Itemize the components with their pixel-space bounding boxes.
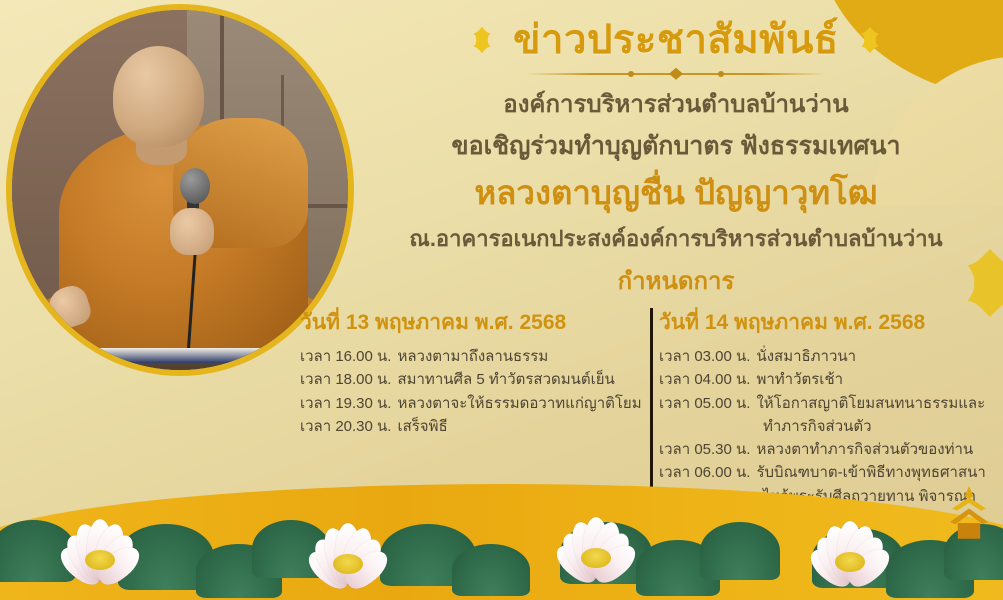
item-time: เวลา 18.00 น. xyxy=(300,368,391,391)
item-time: เวลา 19.30 น. xyxy=(300,392,391,415)
item-detail: พาทำวัตรเช้า xyxy=(756,368,843,391)
item-time: เวลา 05.00 น. xyxy=(659,392,750,415)
item-time: เวลา 04.00 น. xyxy=(659,368,750,391)
thai-pagoda-icon xyxy=(941,484,997,542)
item-detail: หลวงตามาถึงลานธรรม xyxy=(397,345,548,368)
agenda-label: กำหนดการ xyxy=(352,261,1000,300)
schedule-item: เวลา 20.30 น. เสร็จพิธี xyxy=(300,415,637,438)
item-time: เวลา 05.30 น. xyxy=(659,438,750,461)
schedule-item: เวลา 06.00 น. รับบิณฑบาต-เข้าพิธีทางพุทธ… xyxy=(659,461,1000,484)
venue-text: ณ.อาคารอเนกประสงค์องค์การบริหารส่วนตำบลบ… xyxy=(352,225,1000,254)
item-detail: ให้โอกาสญาติโยมสนทนาธรรมและ xyxy=(756,392,985,415)
day2-heading: วันที่ 14 พฤษภาคม พ.ศ. 2568 xyxy=(659,306,1000,339)
header-block: ข่าวประชาสัมพันธ์ องค์การบริหารส่วนตำบลบ… xyxy=(352,18,1000,300)
four-petal-flower-icon xyxy=(467,25,497,55)
item-detail: หลวงตาจะให้ธรรมดอวาทแก่ญาติโยม xyxy=(397,392,641,415)
diamond-divider-icon xyxy=(526,67,826,81)
schedule-item-continuation: ทำภารกิจส่วนตัว xyxy=(659,415,1000,438)
monk-name: หลวงตาบุญชื่น ปัญญาวุทโฒ xyxy=(352,172,1000,213)
item-detail: เสร็จพิธี xyxy=(397,415,447,438)
schedule-item: เวลา 05.00 น. ให้โอกาสญาติโยมสนทนาธรรมแล… xyxy=(659,392,1000,415)
page-title: ข่าวประชาสัมพันธ์ xyxy=(513,18,839,63)
schedule-item: เวลา 04.00 น. พาทำวัตรเช้า xyxy=(659,368,1000,391)
item-time: เวลา 03.00 น. xyxy=(659,345,750,368)
monk-photo-content xyxy=(12,10,348,370)
item-detail: สมาทานศีล 5 ทำวัตรสวดมนต์เย็น xyxy=(397,368,614,391)
item-detail: รับบิณฑบาต-เข้าพิธีทางพุทธศาสนา xyxy=(756,461,985,484)
lotus-flower xyxy=(790,500,910,586)
title-row: ข่าวประชาสัมพันธ์ xyxy=(352,18,1000,63)
item-detail: นั่งสมาธิภาวนา xyxy=(756,345,856,368)
item-time: เวลา 20.30 น. xyxy=(300,415,391,438)
invitation-text: ขอเชิญร่วมทำบุญตักบาตร ฟังธรรมเทศนา xyxy=(352,130,1000,163)
lotus-leaf xyxy=(452,544,530,596)
schedule-item: เวลา 16.00 น. หลวงตามาถึงลานธรรม xyxy=(300,345,637,368)
item-time: เวลา 16.00 น. xyxy=(300,345,391,368)
lotus-flower xyxy=(40,498,160,584)
item-detail: หลวงตาทำภารกิจส่วนตัวของท่าน xyxy=(756,438,973,461)
organization-name: องค์การบริหารส่วนตำบลบ้านว่าน xyxy=(352,89,1000,120)
poster-canvas: ข่าวประชาสัมพันธ์ องค์การบริหารส่วนตำบลบ… xyxy=(0,0,1003,600)
item-time: เวลา 06.00 น. xyxy=(659,461,750,484)
lotus-leaf xyxy=(700,522,780,580)
schedule-item: เวลา 18.00 น. สมาทานศีล 5 ทำวัตรสวดมนต์เ… xyxy=(300,368,637,391)
schedule-item: เวลา 03.00 น. นั่งสมาธิภาวนา xyxy=(659,345,1000,368)
day1-heading: วันที่ 13 พฤษภาคม พ.ศ. 2568 xyxy=(300,306,637,339)
lotus-flower xyxy=(288,502,408,588)
schedule-item: เวลา 19.30 น. หลวงตาจะให้ธรรมดอวาทแก่ญาต… xyxy=(300,392,637,415)
four-petal-flower-icon xyxy=(855,25,885,55)
lotus-flower xyxy=(536,496,656,582)
schedule-item: เวลา 05.30 น. หลวงตาทำภารกิจส่วนตัวของท่… xyxy=(659,438,1000,461)
